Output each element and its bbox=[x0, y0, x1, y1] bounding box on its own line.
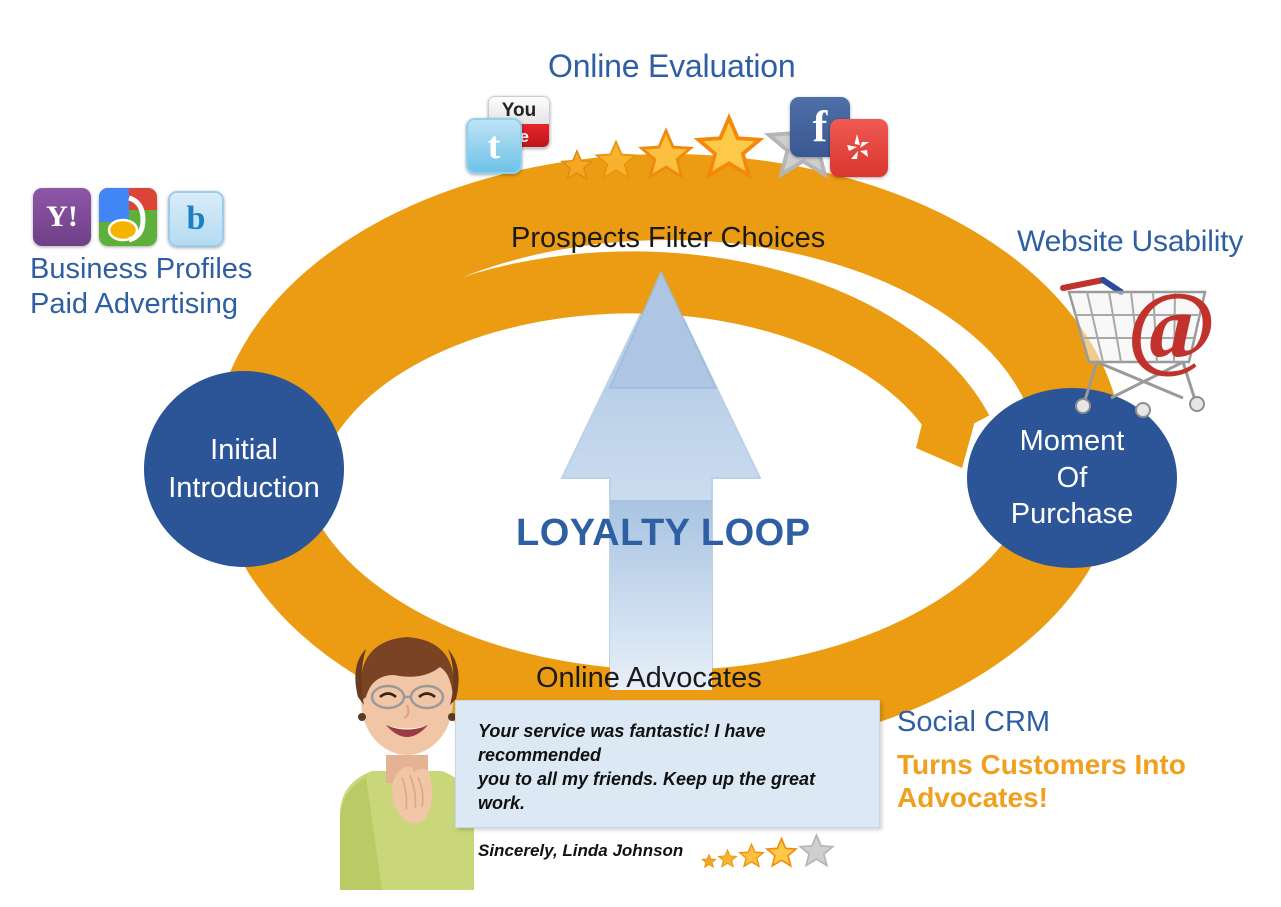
mini-star-icon-1-filled bbox=[701, 853, 717, 869]
left-section-labels: Business Profiles Paid Advertising bbox=[30, 252, 252, 323]
star-icon-1-filled bbox=[560, 148, 594, 182]
testimonial-signature: Sincerely, Linda Johnson bbox=[478, 841, 683, 861]
node-initial-line1: Initial bbox=[168, 431, 320, 469]
star-icon-2-filled bbox=[594, 138, 638, 182]
star-icon-3-filled bbox=[638, 126, 694, 182]
node-initial-line2: Introduction bbox=[168, 469, 320, 507]
yahoo-icon-glyph: Y! bbox=[46, 202, 78, 232]
mini-star-icon-4-filled bbox=[765, 836, 798, 869]
shopping-cart-at-icon: @ bbox=[1055, 270, 1240, 430]
google-icon[interactable] bbox=[99, 188, 157, 246]
mini-star-icon-5-empty bbox=[798, 832, 835, 869]
mini-star-icon-3-filled bbox=[738, 842, 765, 869]
yelp-burst-icon bbox=[839, 128, 879, 168]
mini-star-icon-2-filled bbox=[717, 848, 738, 869]
bing-icon-glyph: b bbox=[187, 202, 206, 236]
label-paid-advertising: Paid Advertising bbox=[30, 287, 252, 322]
testimonial-card: Your service was fantastic! I have recom… bbox=[455, 700, 880, 828]
at-symbol-glyph: @ bbox=[1127, 272, 1216, 379]
node-purchase-line2: Of bbox=[1011, 460, 1134, 497]
testimonial-rating bbox=[701, 832, 835, 869]
social-crm-block: Social CRM Turns Customers Into Advocate… bbox=[897, 705, 1186, 814]
social-crm-subtitle-line2: Advocates! bbox=[897, 781, 1186, 814]
website-usability-title: Website Usability bbox=[1017, 224, 1243, 259]
twitter-icon[interactable]: t bbox=[466, 118, 522, 174]
diagram-canvas: Prospects Filter Choices Online Advocate… bbox=[0, 0, 1281, 907]
testimonial-quote-line1: Your service was fantastic! I have recom… bbox=[478, 719, 861, 767]
social-crm-subtitle: Turns Customers Into Advocates! bbox=[897, 748, 1186, 814]
testimonial-quote-line2: you to all my friends. Keep up the great… bbox=[478, 767, 861, 815]
bing-icon[interactable]: b bbox=[168, 191, 224, 247]
ring-label-bottom: Online Advocates bbox=[536, 662, 762, 695]
star-icon-4-filled bbox=[694, 112, 764, 182]
social-crm-title: Social CRM bbox=[897, 705, 1186, 740]
node-initial-introduction[interactable]: Initial Introduction bbox=[144, 371, 344, 567]
yahoo-icon[interactable]: Y! bbox=[33, 188, 91, 246]
label-business-profiles: Business Profiles bbox=[30, 252, 252, 287]
node-purchase-line3: Purchase bbox=[1011, 496, 1134, 533]
online-evaluation-title: Online Evaluation bbox=[548, 48, 795, 86]
twitter-icon-glyph: t bbox=[488, 127, 501, 165]
ring-label-top: Prospects Filter Choices bbox=[511, 222, 825, 255]
google-icon-glyph bbox=[99, 188, 157, 246]
twitter-youtube-icon-group: You be t bbox=[466, 96, 562, 174]
center-loyalty-loop-label: LOYALTY LOOP bbox=[516, 512, 811, 555]
search-engine-icon-group: Y! b bbox=[33, 188, 233, 250]
facebook-icon-glyph: f bbox=[813, 107, 828, 147]
facebook-yelp-icon-group: f bbox=[790, 97, 888, 177]
social-crm-subtitle-line1: Turns Customers Into bbox=[897, 748, 1186, 781]
yelp-icon[interactable] bbox=[830, 119, 888, 177]
